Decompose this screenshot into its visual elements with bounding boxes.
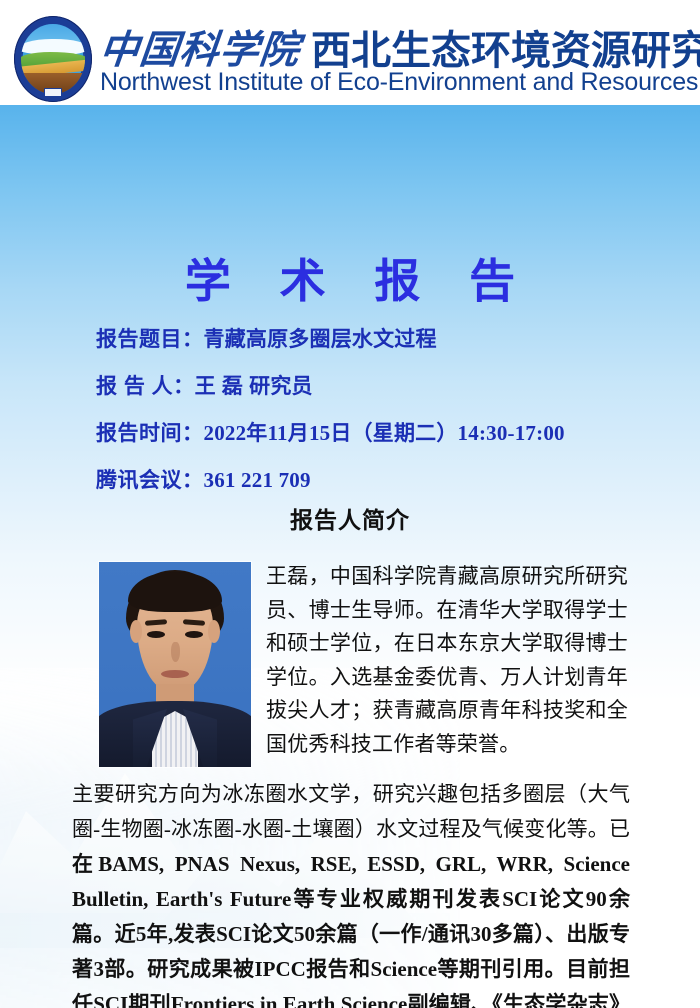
photo-mouth bbox=[161, 670, 189, 678]
time-label: 报告时间： bbox=[96, 422, 204, 445]
bio-paragraph-2-lead: 主要研究方向为冰冻圈水文学，研究兴趣包括多圈层（大气圈-生物圈-冰冻圈-水圈-土… bbox=[72, 782, 630, 841]
meeting-id-value: 361 221 709 bbox=[204, 468, 311, 492]
poster-header: 中国科学院西北生态环境资源研究院 Northwest Institute of … bbox=[0, 0, 700, 105]
speaker-bio-paragraph-2: 主要研究方向为冰冻圈水文学，研究兴趣包括多圈层（大气圈-生物圈-冰冻圈-水圈-土… bbox=[72, 777, 630, 1008]
speaker-bio-paragraph-1: 王磊，中国科学院青藏高原研究所研究员、博士生导师。在清华大学取得学士和硕士学位，… bbox=[266, 560, 628, 761]
time-value: 2022年11月15日（星期二）14:30-17:00 bbox=[204, 421, 565, 445]
academic-lecture-poster: 中国科学院西北生态环境资源研究院 Northwest Institute of … bbox=[0, 0, 700, 1008]
photo-eye-right bbox=[185, 631, 203, 638]
info-row-meeting: 腾讯会议：361 221 709 bbox=[96, 464, 656, 494]
bio-paragraph-2-rest: 在BAMS, PNAS Nexus, RSE, ESSD, GRL, WRR, … bbox=[72, 852, 630, 1008]
info-row-topic: 报告题目：青藏高原多圈层水文过程 bbox=[96, 323, 656, 353]
topic-value: 青藏高原多圈层水文过程 bbox=[204, 328, 437, 351]
speaker-label: 报 告 人： bbox=[96, 375, 195, 398]
photo-eye-left bbox=[147, 631, 165, 638]
logo-landscape-scene bbox=[21, 24, 85, 94]
logo-bottom-plate bbox=[44, 88, 62, 97]
institute-english-name: Northwest Institute of Eco-Environment a… bbox=[100, 68, 700, 97]
speaker-photo bbox=[99, 562, 251, 767]
photo-ear-right bbox=[208, 620, 220, 643]
photo-nose bbox=[171, 642, 180, 662]
page-title: 学 术 报 告 bbox=[0, 245, 700, 311]
institute-logo-icon bbox=[14, 16, 92, 102]
meeting-label: 腾讯会议： bbox=[96, 469, 204, 492]
info-row-speaker: 报 告 人：王 磊 研究员 bbox=[96, 370, 656, 400]
lecture-info-block: 报告题目：青藏高原多圈层水文过程 报 告 人：王 磊 研究员 报告时间：2022… bbox=[96, 323, 656, 511]
academy-name-text: 中国科学院 bbox=[97, 19, 303, 75]
topic-label: 报告题目： bbox=[96, 328, 204, 351]
photo-ear-left bbox=[130, 620, 142, 643]
speaker-intro-heading: 报告人简介 bbox=[0, 501, 700, 535]
info-row-time: 报告时间：2022年11月15日（星期二）14:30-17:00 bbox=[96, 417, 656, 447]
speaker-value: 王 磊 研究员 bbox=[195, 375, 313, 398]
